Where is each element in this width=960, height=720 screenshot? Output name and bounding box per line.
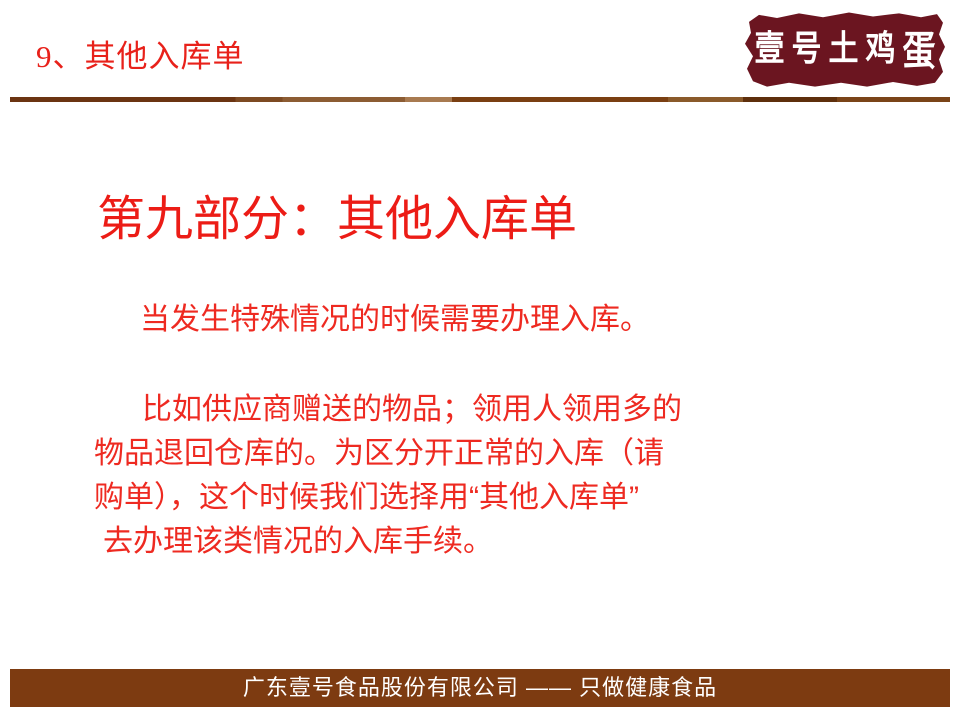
slide-content: 第九部分：其他入库单 当发生特殊情况的时候需要办理入库。 比如供应商赠送的物品；…	[0, 0, 960, 720]
footer-text: 广东壹号食品股份有限公司 —— 只做健康食品	[10, 669, 950, 707]
body-paragraph-2-line-4: 去办理该类情况的入库手续。	[94, 520, 874, 564]
body-paragraph-2-line-2: 物品退回仓库的。为区分开正常的入库（请	[94, 432, 874, 476]
section-heading: 第九部分：其他入库单	[97, 192, 577, 248]
body-paragraph-1: 当发生特殊情况的时候需要办理入库。	[140, 298, 650, 342]
body-paragraph-2: 比如供应商赠送的物品；领用人领用多的 物品退回仓库的。为区分开正常的入库（请 购…	[94, 388, 874, 564]
presentation-slide: 9、其他入库单 壹 号 土 鸡 蛋 第九部分：其他入库单 当发生特殊情况的时候需…	[0, 0, 960, 720]
footer-bar: 广东壹号食品股份有限公司 —— 只做健康食品	[10, 669, 950, 707]
body-paragraph-2-line-1: 比如供应商赠送的物品；领用人领用多的	[94, 388, 874, 432]
body-paragraph-2-line-3: 购单），这个时候我们选择用“其他入库单”	[94, 476, 874, 520]
